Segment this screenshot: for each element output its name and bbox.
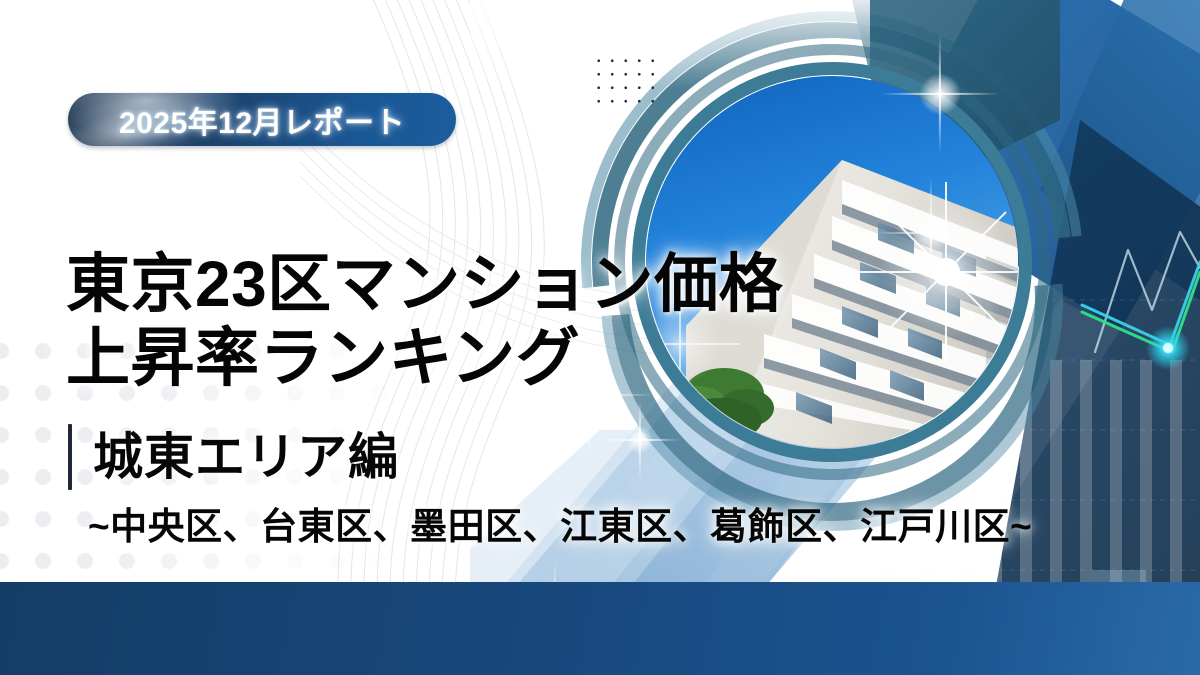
district-list: ~中央区、台東区、墨田区、江東区、葛飾区、江戸川区~ xyxy=(88,508,1032,545)
bottom-accent-band xyxy=(0,582,1200,675)
subtitle-row: 城東エリア編 xyxy=(68,424,399,490)
subtitle-text: 城東エリア編 xyxy=(93,432,399,482)
page-title: 東京23区マンション価格 上昇率ランキング xyxy=(66,247,946,395)
hero-banner: 2025年12月レポート 東京23区マンション価格 上昇率ランキング 城東エリア… xyxy=(0,0,1200,675)
subtitle-rule xyxy=(68,424,72,490)
page-title-line-1: 東京23区マンション価格 xyxy=(66,247,946,321)
report-date-badge[interactable]: 2025年12月レポート xyxy=(68,93,456,146)
page-title-line-2: 上昇率ランキング xyxy=(66,321,946,395)
report-date-label: 2025年12月レポート xyxy=(119,98,405,142)
